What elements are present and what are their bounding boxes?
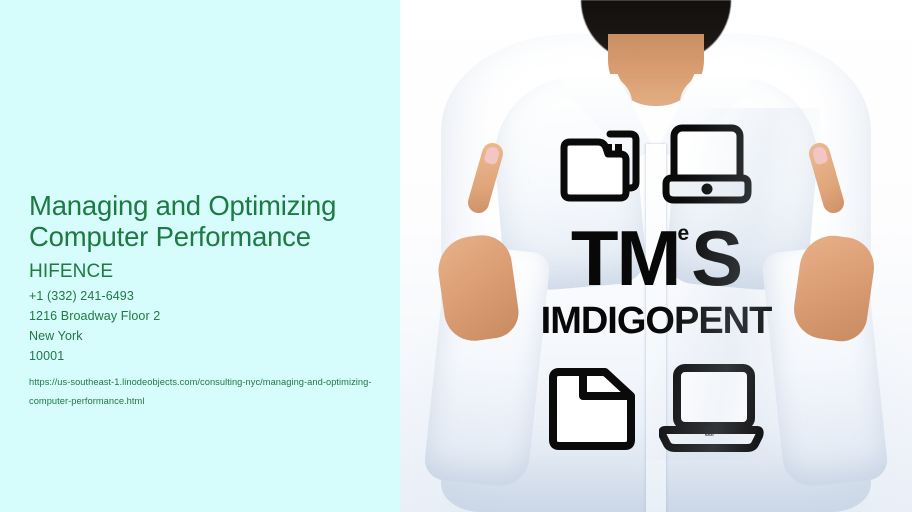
hero-photo: TMeS IMDIGOPENT ▥ [400, 0, 912, 512]
contact-city: New York [29, 326, 401, 346]
person-torso: TMeS IMDIGOPENT ▥ [441, 34, 871, 512]
fingernail-left [483, 145, 500, 165]
folder-icon [558, 120, 644, 206]
shirt-headline-main: TM [571, 214, 680, 302]
shirt-headline-tail: S [691, 214, 741, 302]
promo-banner: Managing and Optimizing Computer Perform… [0, 0, 912, 512]
laptop-logo-mark: ▥ [704, 424, 714, 437]
shirt-subheadline: IMDIGOPENT [506, 300, 806, 342]
shirt-print: TMeS IMDIGOPENT ▥ [506, 114, 806, 454]
info-panel: Managing and Optimizing Computer Perform… [0, 0, 400, 512]
shirt-print-bottom-icons: ▥ [506, 354, 806, 454]
contact-street: 1216 Broadway Floor 2 [29, 306, 401, 326]
contact-zip: 10001 [29, 346, 401, 366]
laptop-icon: ▥ [659, 362, 765, 454]
shirt-headline: TMeS [506, 212, 806, 298]
contact-phone[interactable]: +1 (332) 241-6493 [29, 286, 401, 306]
folder-icon [547, 362, 643, 454]
page-title: Managing and Optimizing Computer Perform… [29, 190, 401, 252]
brand-name: HIFENCE [29, 261, 401, 283]
source-url[interactable]: https://us-southeast-1.linodeobjects.com… [29, 373, 374, 411]
shirt-headline-superscript: e [677, 222, 689, 245]
laptop-icon [660, 122, 754, 206]
info-block: Managing and Optimizing Computer Perform… [29, 190, 401, 411]
fingernail-right [811, 145, 828, 165]
shirt-print-top-icons [506, 114, 806, 206]
